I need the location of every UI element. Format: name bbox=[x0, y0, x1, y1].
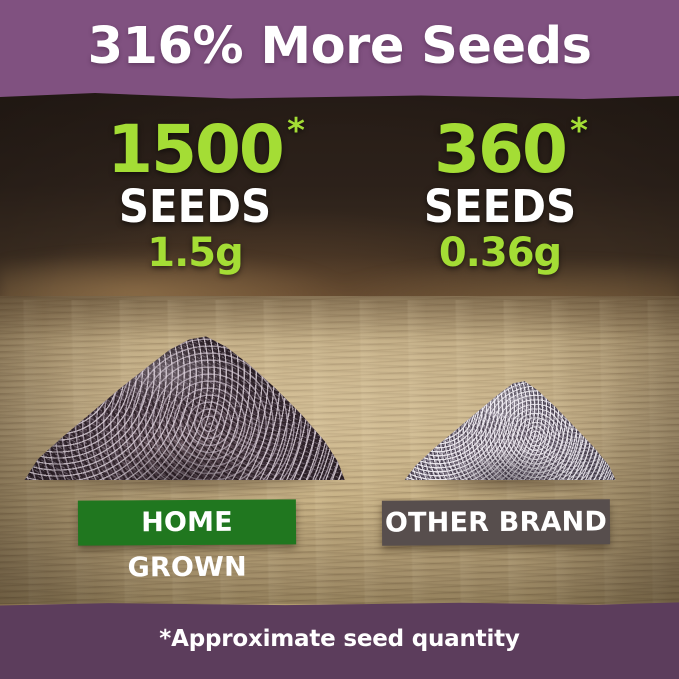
seed-pile-mound bbox=[18, 332, 348, 480]
seed-weight-value: 1.5g bbox=[45, 232, 345, 274]
page-title: 316% More Seeds bbox=[0, 17, 679, 77]
footnote-text: *Approximate seed quantity bbox=[0, 626, 679, 652]
seed-pile-mound bbox=[398, 376, 620, 480]
seed-pile-highlight bbox=[18, 332, 348, 480]
asterisk-icon: * bbox=[287, 114, 305, 148]
seed-count-unit: SEEDS bbox=[361, 184, 640, 230]
stat-block-other-brand: 360 * SEEDS 0.36g bbox=[350, 118, 650, 274]
seed-pile-highlight bbox=[398, 376, 620, 480]
product-photo-scene bbox=[0, 0, 679, 679]
asterisk-icon: * bbox=[570, 114, 588, 148]
seed-weight-value: 0.36g bbox=[350, 232, 650, 274]
seed-pile-other-brand bbox=[398, 376, 620, 496]
label-banner-home-grown: HOME GROWN bbox=[78, 499, 296, 545]
infographic-canvas: 316% More Seeds 1500 * SEEDS 1.5g 360 * … bbox=[0, 0, 679, 679]
seed-pile-home-grown bbox=[18, 332, 348, 494]
label-banner-other-brand: OTHER BRAND bbox=[382, 499, 610, 545]
seed-count-row: 360 * bbox=[434, 118, 566, 182]
seed-count-value: 360 bbox=[434, 118, 566, 182]
seed-count-value: 1500 bbox=[107, 118, 283, 182]
seed-count-unit: SEEDS bbox=[56, 184, 335, 230]
seed-count-row: 1500 * bbox=[107, 118, 283, 182]
stat-block-home-grown: 1500 * SEEDS 1.5g bbox=[45, 118, 345, 274]
